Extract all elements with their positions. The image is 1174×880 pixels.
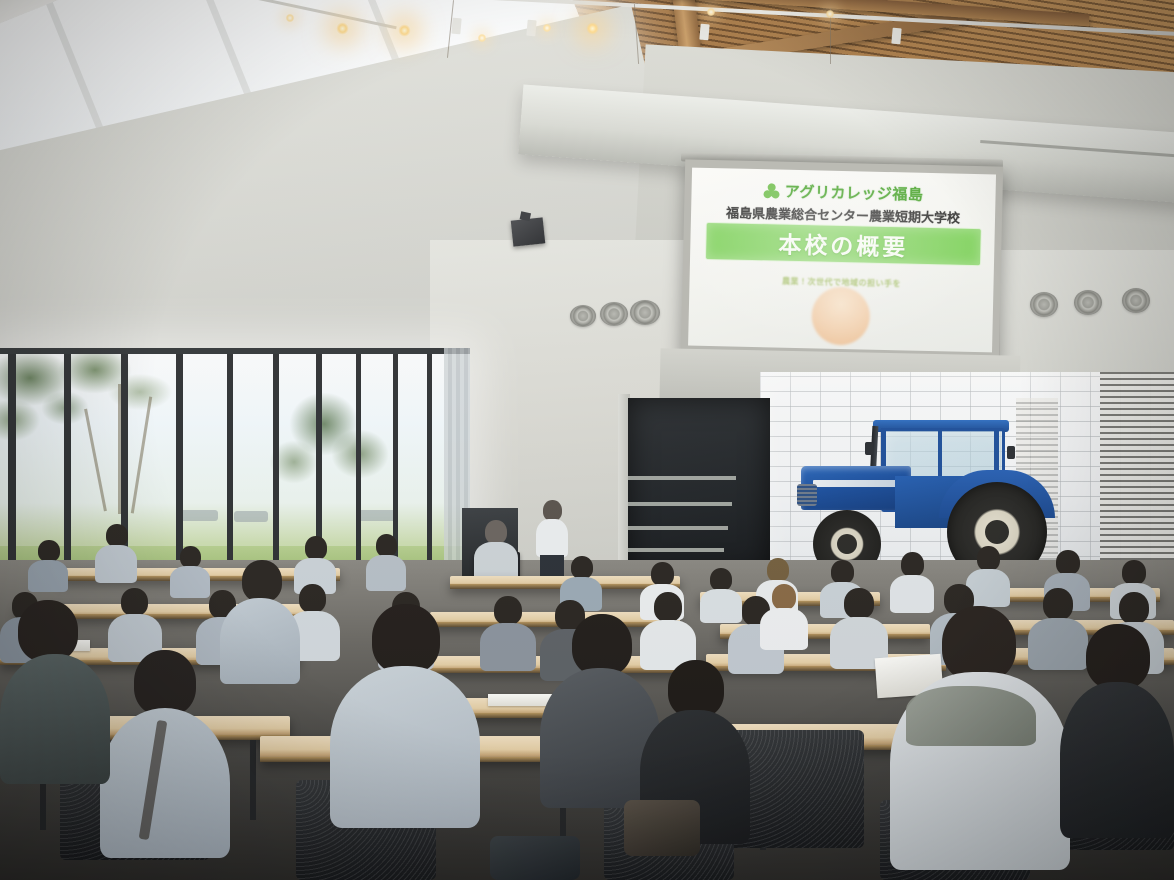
ceiling-spotlight — [707, 8, 715, 16]
track-light-housing — [699, 24, 709, 41]
audience-member — [95, 524, 137, 580]
projection-screen[interactable]: アグリカレッジ福島 福島県農業総合センター農業短期大学校 本校の概要 農業 ! … — [681, 159, 1003, 364]
outdoor-trees — [0, 348, 280, 508]
audience-member — [0, 600, 110, 780]
audience-member — [890, 552, 934, 610]
audience-member — [366, 534, 406, 588]
audience-member — [28, 540, 68, 588]
audience-member — [1060, 624, 1174, 834]
track-light-housing — [451, 18, 461, 35]
floor-bag — [490, 836, 580, 880]
round-air-diffuser — [630, 300, 660, 325]
floor-bag — [624, 800, 700, 856]
wall-speaker-icon — [511, 217, 546, 246]
audience-member — [330, 604, 480, 824]
audience-member — [830, 588, 888, 666]
audience-member — [890, 606, 1070, 866]
ceiling-spotlight — [543, 24, 551, 32]
seated-presenter — [474, 520, 518, 580]
projected-slide: アグリカレッジ福島 福島県農業総合センター農業短期大学校 本校の概要 農業 ! … — [688, 168, 996, 353]
dark-shelf-alcove — [628, 398, 770, 576]
track-light-housing — [891, 28, 901, 45]
parked-vehicle — [356, 510, 398, 521]
round-air-diffuser — [1030, 292, 1058, 317]
audience-member — [170, 546, 210, 594]
sun-graphic — [811, 286, 870, 345]
round-air-diffuser — [1074, 290, 1102, 315]
ceiling-spotlight — [336, 22, 349, 35]
slide-headline-bar: 本校の概要 — [705, 222, 982, 266]
ceiling-spotlight — [586, 22, 599, 35]
slide-headline: 本校の概要 — [778, 226, 909, 263]
audience-member — [480, 596, 536, 668]
trefoil-leaf-logo-icon — [764, 183, 780, 198]
ceiling-spotlight — [478, 34, 486, 42]
ceiling-spotlight — [286, 14, 294, 22]
ceiling-spotlight — [826, 10, 834, 18]
ceiling-spotlight — [398, 24, 411, 37]
round-air-diffuser — [1122, 288, 1150, 313]
parked-vehicle — [234, 511, 268, 522]
slide-brand-title: アグリカレッジ福島 — [784, 181, 923, 205]
lecture-hall-photo: アグリカレッジ福島 福島県農業総合センター農業短期大学校 本校の概要 農業 ! … — [0, 0, 1174, 880]
round-air-diffuser — [600, 302, 628, 326]
audience-member — [100, 650, 230, 850]
track-light-housing — [526, 20, 536, 37]
audience-member — [220, 560, 300, 680]
audience-member — [760, 584, 808, 646]
round-air-diffuser — [570, 305, 596, 327]
parked-vehicle — [178, 510, 218, 521]
outdoor-trees — [268, 374, 398, 514]
